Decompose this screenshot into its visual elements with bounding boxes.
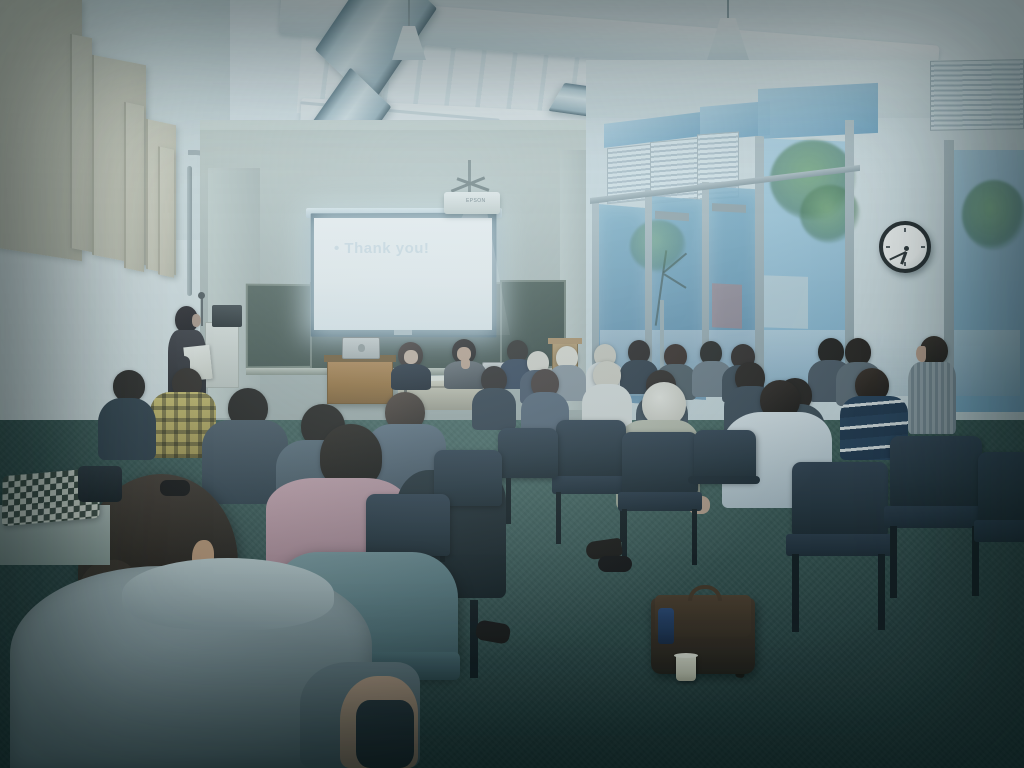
clock-tick-3 <box>921 246 925 248</box>
empty-chair-1-seat[interactable] <box>552 476 630 494</box>
standing-presenter-face <box>192 314 201 327</box>
empty-chair-4-back[interactable] <box>890 436 982 508</box>
slide-text: • Thank you! <box>334 240 429 257</box>
chair-left-1-back[interactable] <box>498 428 558 478</box>
panelist-left-face <box>404 350 418 364</box>
projection-screen-pull-tab <box>394 330 412 335</box>
clock-tick-6 <box>904 262 906 266</box>
projector-mount <box>468 160 471 194</box>
microphone-stand <box>201 296 203 326</box>
empty-chair-4-seat[interactable] <box>884 506 986 528</box>
window-blinds-4 <box>930 59 1024 131</box>
projector-brand-label: EPSON <box>466 198 486 204</box>
shoe-2 <box>598 556 632 572</box>
clock-tick-9 <box>886 246 890 248</box>
chair-left-3-back[interactable] <box>366 494 450 556</box>
chair-left-1-leg <box>506 478 511 524</box>
projector: EPSON <box>444 192 500 214</box>
coffee-cup-rim <box>674 653 698 658</box>
empty-chair-4-leg-left <box>890 526 897 598</box>
panelist-right-hand <box>461 358 470 369</box>
wall-clock <box>879 221 931 273</box>
clock-tick-12 <box>904 228 906 232</box>
water-bottle-floor <box>658 608 674 644</box>
empty-chair-2-seat[interactable] <box>618 492 702 511</box>
empty-chair-6-back[interactable] <box>694 430 756 482</box>
dark-object-on-ledge <box>78 466 122 502</box>
tree-outside-4 <box>630 220 686 272</box>
foreground-chair-teal-leg <box>470 600 478 678</box>
empty-chair-1-back[interactable] <box>556 420 626 478</box>
attendee-body-checkered-man <box>908 362 956 434</box>
outdoor-building-2 <box>760 275 808 329</box>
empty-chair-2-leg-right <box>692 509 697 565</box>
outdoor-building-1 <box>712 283 742 329</box>
empty-chair-1-leg-left <box>556 492 561 544</box>
apple-logo-icon <box>358 344 365 352</box>
photograph-lecture-hall: • Thank you! EPSON <box>0 0 1024 768</box>
empty-chair-6-arm <box>688 476 760 484</box>
acoustic-panel-2 <box>70 34 92 252</box>
pendant-cord-1 <box>408 0 410 28</box>
av-cabinet <box>327 360 393 404</box>
empty-chair-3-leg-right <box>878 554 885 630</box>
attendee-body-m1 <box>472 388 516 430</box>
monitor-on-cabinet <box>212 305 242 327</box>
panelist-left-body <box>391 364 431 390</box>
attendee-face-checkered-man <box>916 346 926 362</box>
clerestory-glass-3 <box>758 83 878 139</box>
coffee-cup-floor <box>676 655 696 681</box>
empty-chair-3-seat[interactable] <box>786 534 892 556</box>
clock-center-pin <box>904 246 909 251</box>
lectern-top <box>548 338 582 344</box>
empty-chair-3-leg-left <box>792 554 799 632</box>
foreground-woman-sleeve <box>356 700 414 768</box>
tree-outside-3 <box>962 180 1024 250</box>
acoustic-panel-4 <box>124 102 144 272</box>
window-mullion-4 <box>755 136 764 398</box>
attendee-body-l1 <box>98 398 156 460</box>
door-closer-2 <box>712 203 746 213</box>
pendant-cord-2 <box>727 0 729 20</box>
acoustic-panel-6 <box>158 146 174 277</box>
foreground-woman-hood <box>122 558 334 630</box>
projection-screen: • Thank you! <box>314 218 492 330</box>
wall-conduit-pipe <box>187 166 192 296</box>
microphone-head <box>198 292 205 299</box>
empty-chair-2-back[interactable] <box>622 432 698 494</box>
shoe-4 <box>160 480 190 496</box>
empty-chair-5-back[interactable] <box>978 452 1024 522</box>
empty-chair-3-back[interactable] <box>792 462 888 536</box>
empty-chair-5-seat[interactable] <box>974 520 1024 542</box>
